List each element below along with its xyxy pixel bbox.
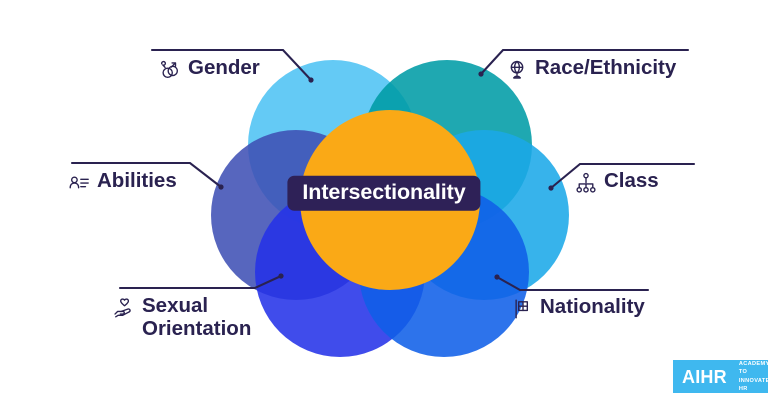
label-class-text: Class bbox=[604, 170, 659, 193]
globe-stand-icon bbox=[506, 59, 528, 81]
hierarchy-icon bbox=[575, 172, 597, 194]
label-abilities[interactable]: Abilities bbox=[68, 170, 177, 194]
label-sexual-orientation[interactable]: Sexual Orientation bbox=[113, 295, 292, 341]
aihr-logo[interactable]: AIHR Academy to Innovate HR bbox=[673, 360, 768, 393]
label-nationality[interactable]: Nationality bbox=[511, 296, 645, 320]
center-label-badge: Intersectionality bbox=[287, 176, 480, 211]
gender-symbols-icon bbox=[159, 59, 181, 81]
hand-heart-icon bbox=[113, 297, 135, 319]
label-nationality-text: Nationality bbox=[540, 296, 645, 319]
flag-icon bbox=[511, 298, 533, 320]
label-gender-text: Gender bbox=[188, 57, 260, 80]
label-abilities-text: Abilities bbox=[97, 170, 177, 193]
label-sexual-orientation-text: Sexual Orientation bbox=[142, 295, 292, 341]
label-class[interactable]: Class bbox=[575, 170, 659, 194]
aihr-logo-wordmark: AIHR bbox=[682, 368, 727, 386]
aihr-tagline-line-2: Innovate HR bbox=[739, 377, 768, 393]
label-race-ethnicity[interactable]: Race/Ethnicity bbox=[506, 57, 676, 81]
diagram-canvas: Intersectionality Gender bbox=[0, 0, 768, 401]
aihr-tagline-line-1: Academy to bbox=[739, 360, 768, 376]
aihr-logo-tagline: Academy to Innovate HR bbox=[739, 360, 768, 392]
person-lines-icon bbox=[68, 172, 90, 194]
label-race-ethnicity-text: Race/Ethnicity bbox=[535, 57, 676, 80]
label-gender[interactable]: Gender bbox=[159, 57, 260, 81]
